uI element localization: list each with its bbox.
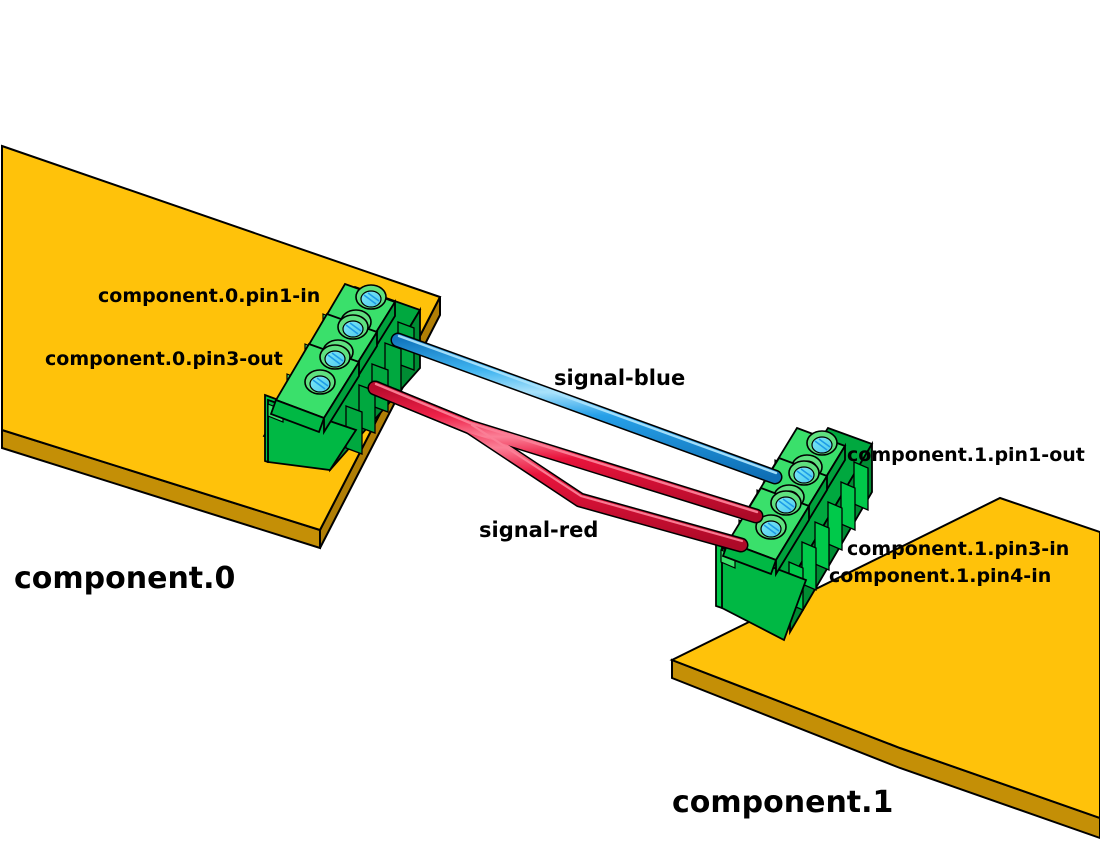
signal-label-signal-red: signal-red bbox=[479, 518, 598, 542]
pin-label-component-1-pin4-in: component.1.pin4-in bbox=[829, 565, 1051, 587]
connector-1-screw-pin3[interactable] bbox=[789, 461, 819, 485]
pin-label-component-0-pin1-in: component.0.pin1-in bbox=[98, 285, 320, 307]
connector-0-screw-pin6[interactable] bbox=[305, 370, 335, 394]
board-label-component-0: component.0 bbox=[14, 561, 235, 596]
signal-label-signal-blue: signal-blue bbox=[554, 366, 685, 390]
connector-0-screw-pin1[interactable] bbox=[356, 285, 386, 309]
wiring-diagram-canvas: component.0.pin1-in component.0.pin3-out… bbox=[0, 0, 1100, 850]
board-label-component-1: component.1 bbox=[672, 785, 893, 820]
pin-label-component-1-pin1-out: component.1.pin1-out bbox=[847, 444, 1085, 466]
connector-1-screw-pin5[interactable] bbox=[771, 491, 801, 515]
connector-0-screw-pin3[interactable] bbox=[338, 315, 368, 339]
pin-label-component-1-pin3-in: component.1.pin3-in bbox=[847, 538, 1069, 560]
connector-1-screw-pin1[interactable] bbox=[807, 431, 837, 455]
connector-0-screw-pin5[interactable] bbox=[320, 345, 350, 369]
pin-label-component-0-pin3-out: component.0.pin3-out bbox=[45, 348, 283, 370]
